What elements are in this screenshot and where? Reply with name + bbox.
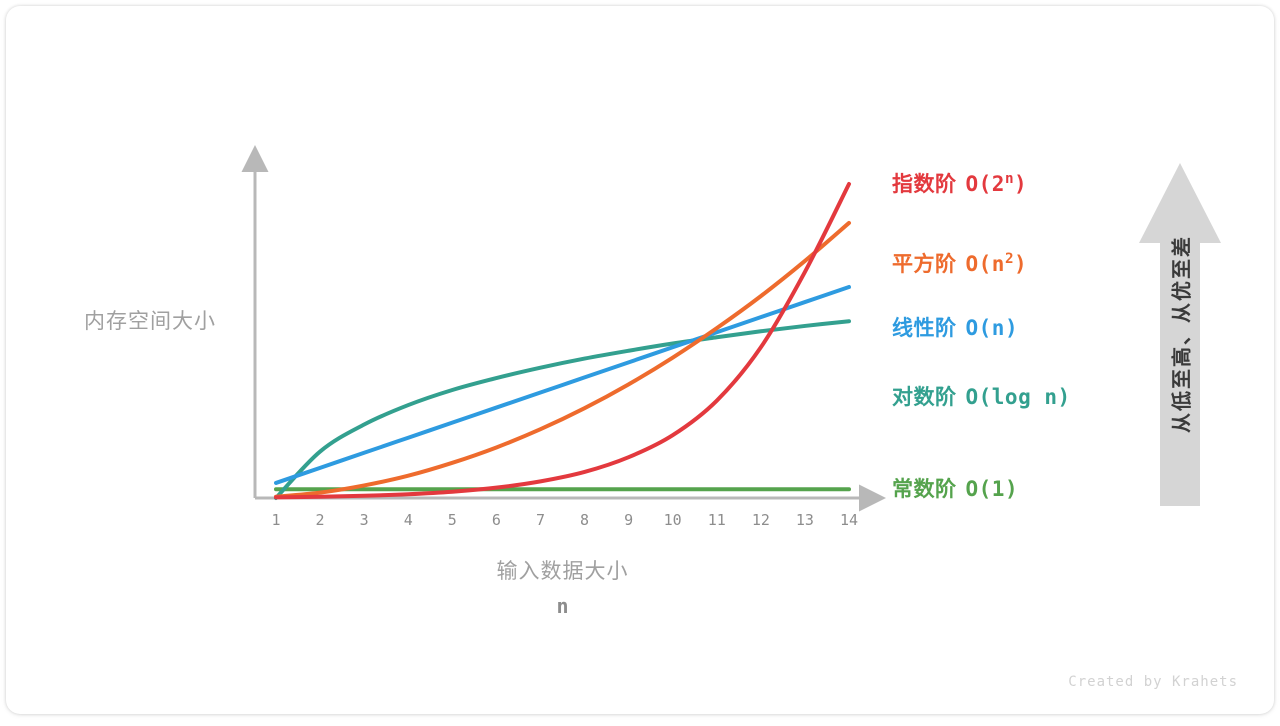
chart-svg (6, 6, 1280, 726)
legend-item-exponential: 指数阶O(2n) (892, 168, 1027, 198)
series-line-linear (276, 287, 849, 483)
series-group (276, 184, 849, 498)
legend-label-logarithmic: 对数阶 (892, 385, 957, 409)
x-tick-13: 13 (785, 511, 825, 529)
legend-notation-logarithmic: O(log n) (966, 385, 1071, 409)
legend-label-quadratic: 平方阶 (892, 252, 957, 276)
chart-stage: 内存空间大小 输入数据大小 n 1234567891011121314 指数阶O… (6, 6, 1274, 714)
x-tick-5: 5 (432, 511, 472, 529)
legend-notation-quadratic: O(n2) (966, 252, 1028, 276)
legend-item-constant: 常数阶O(1) (892, 473, 1018, 503)
series-line-quadratic (276, 223, 849, 497)
legend-item-quadratic: 平方阶O(n2) (892, 248, 1027, 278)
legend-notation-constant: O(1) (966, 477, 1019, 501)
x-tick-8: 8 (565, 511, 605, 529)
series-line-exponential (276, 184, 849, 497)
x-tick-1: 1 (256, 511, 296, 529)
legend-item-linear: 线性阶O(n) (892, 312, 1018, 342)
x-tick-11: 11 (697, 511, 737, 529)
x-tick-3: 3 (344, 511, 384, 529)
x-tick-9: 9 (609, 511, 649, 529)
ranking-arrow-wrap: 从低至高、从优至差 (1142, 161, 1218, 506)
figure-card: 内存空间大小 输入数据大小 n 1234567891011121314 指数阶O… (6, 6, 1274, 714)
x-axis-variable: n (255, 594, 870, 618)
legend-notation-exponential: O(2n) (966, 172, 1028, 196)
legend-label-constant: 常数阶 (892, 477, 957, 501)
legend-notation-linear: O(n) (966, 316, 1019, 340)
x-tick-2: 2 (300, 511, 340, 529)
x-tick-4: 4 (388, 511, 428, 529)
legend-item-logarithmic: 对数阶O(log n) (892, 381, 1071, 411)
x-tick-6: 6 (476, 511, 516, 529)
legend-label-exponential: 指数阶 (892, 172, 957, 196)
y-axis-label: 内存空间大小 (84, 305, 216, 335)
legend-label-linear: 线性阶 (892, 316, 957, 340)
x-tick-14: 14 (829, 511, 869, 529)
x-tick-7: 7 (520, 511, 560, 529)
ranking-arrow-label: 从低至高、从优至差 (1166, 235, 1195, 433)
series-line-logarithmic (276, 321, 849, 498)
x-tick-10: 10 (653, 511, 693, 529)
x-axis-label: 输入数据大小 (255, 555, 870, 585)
x-tick-12: 12 (741, 511, 781, 529)
credit-text: Created by Krahets (1068, 674, 1238, 690)
